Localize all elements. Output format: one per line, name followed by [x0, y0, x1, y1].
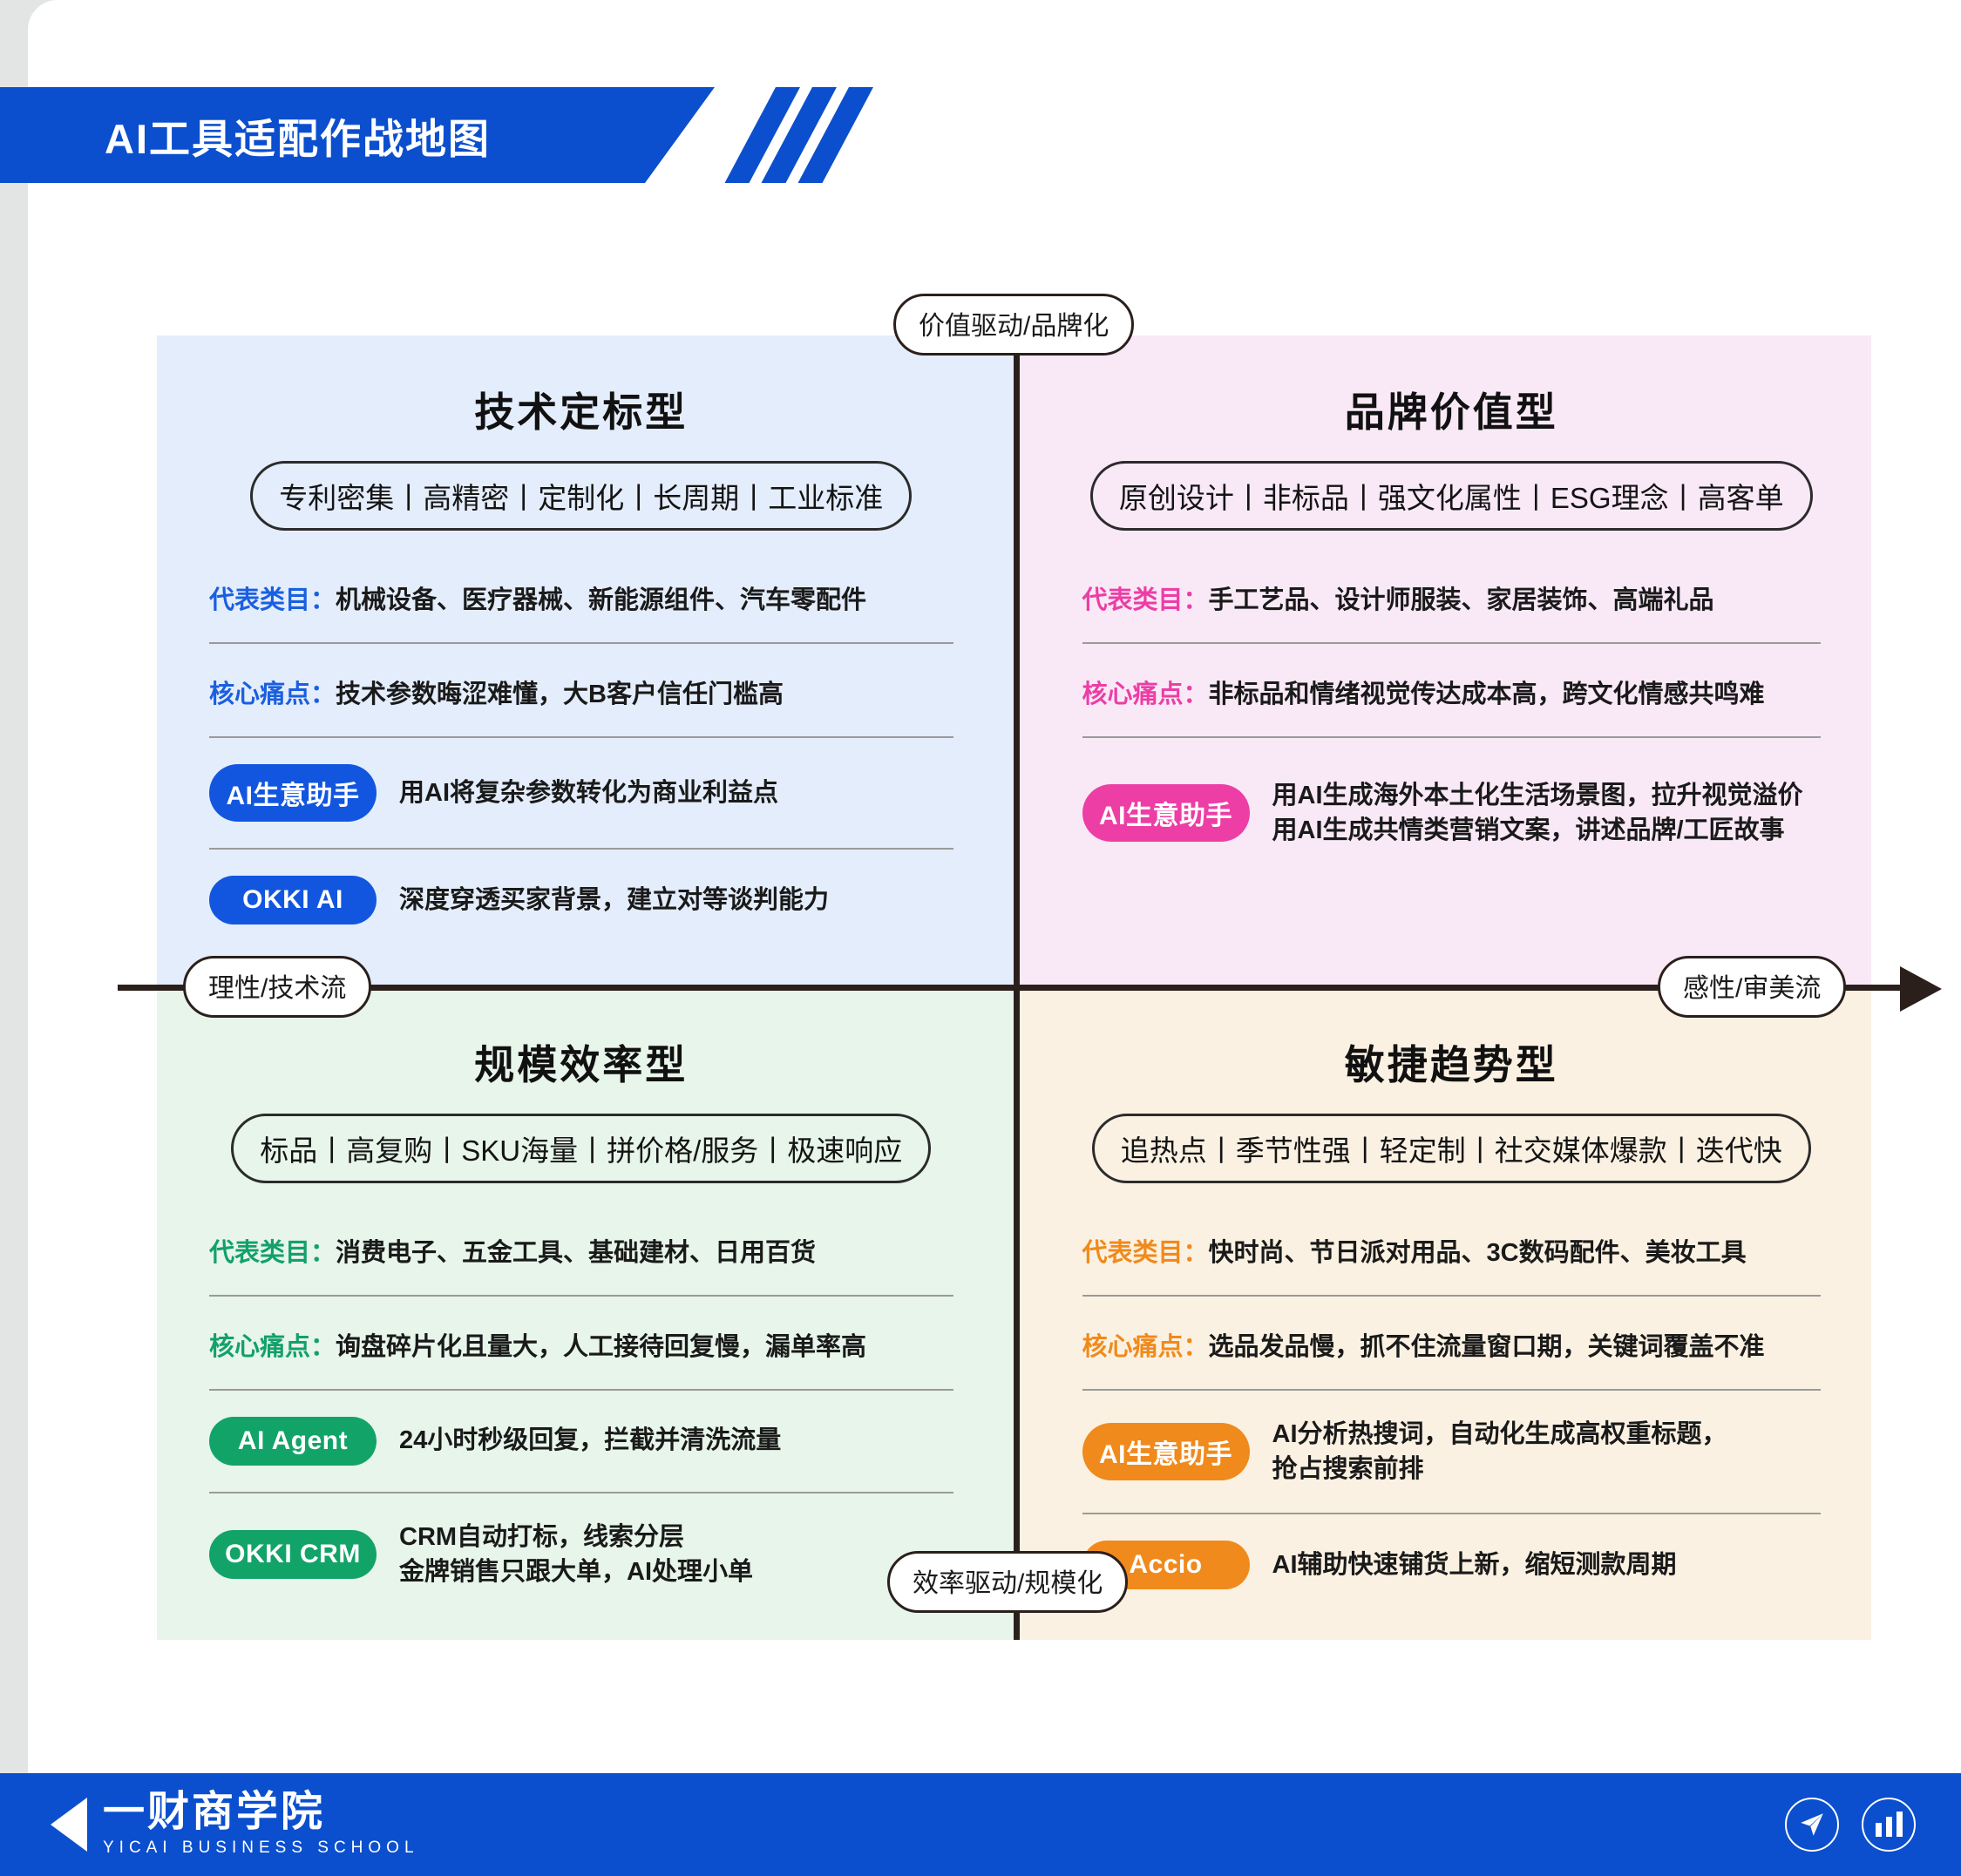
- bar-chart-bars: [1876, 1812, 1903, 1837]
- pain-label: 核心痛点：: [209, 674, 336, 710]
- tool-badge[interactable]: AI生意助手: [1082, 1423, 1250, 1480]
- tool-row: AI生意助手 AI分析热搜词，自动化生成高权重标题， 抢占搜索前排: [1082, 1417, 1822, 1487]
- divider: [1082, 1513, 1822, 1514]
- tool-badge[interactable]: OKKI CRM: [209, 1530, 377, 1579]
- pain-value: 非标品和情绪视觉传达成本高，跨文化情感共鸣难: [1209, 674, 1765, 710]
- tool-badge[interactable]: AI Agent: [209, 1417, 377, 1466]
- divider: [1082, 1295, 1822, 1297]
- pain-label: 核心痛点：: [1082, 674, 1209, 710]
- category-label: 代表类目：: [209, 1232, 336, 1269]
- divider: [209, 1389, 953, 1391]
- tool-description: 用AI将复杂参数转化为商业利益点: [399, 775, 778, 810]
- quadrant-tags: 专利密集丨高精密丨定制化丨长周期丨工业标准: [250, 461, 912, 531]
- tool-row: Accio AI辅助快速铺货上新，缩短测款周期: [1082, 1541, 1822, 1589]
- quadrant-tags: 标品丨高复购丨SKU海量丨拼价格/服务丨极速响应: [231, 1114, 931, 1183]
- tool-description: 用AI生成海外本土化生活场景图，拉升视觉溢价 用AI生成共情类营销文案，讲述品牌…: [1272, 778, 1803, 848]
- divider: [209, 1295, 953, 1297]
- quadrant-title: 品牌价值型: [1082, 381, 1822, 438]
- tool-description: CRM自动打标，线索分层 金牌销售只跟大单，AI处理小单: [399, 1520, 753, 1589]
- footer-icon-group: [1785, 1798, 1916, 1852]
- logo-name-cn: 一财商学院: [103, 1791, 419, 1834]
- pain-row: 核心痛点： 非标品和情绪视觉传达成本高，跨文化情感共鸣难: [1082, 674, 1822, 710]
- tool-badge[interactable]: AI生意助手: [1082, 784, 1250, 842]
- logo-triangle-icon: [51, 1798, 87, 1852]
- pain-label: 核心痛点：: [209, 1326, 336, 1363]
- category-row: 代表类目： 机械设备、医疗器械、新能源组件、汽车零配件: [209, 579, 953, 616]
- quadrant-title: 技术定标型: [209, 381, 953, 438]
- pain-value: 选品发品慢，抓不住流量窗口期，关键词覆盖不准: [1209, 1326, 1765, 1363]
- quadrant-matrix: 技术定标型 专利密集丨高精密丨定制化丨长周期丨工业标准 代表类目： 机械设备、医…: [157, 335, 1871, 1640]
- category-label: 代表类目：: [1082, 579, 1209, 616]
- tool-row: OKKI AI 深度穿透买家背景，建立对等谈判能力: [209, 876, 953, 924]
- page-title: AI工具适配作战地图: [105, 105, 491, 166]
- tool-row: AI Agent 24小时秒级回复，拦截并清洗流量: [209, 1417, 953, 1466]
- category-value: 快时尚、节日派对用品、3C数码配件、美妆工具: [1209, 1232, 1747, 1269]
- logo-name-en: YICAI BUSINESS SCHOOL: [103, 1839, 419, 1858]
- tool-badge[interactable]: AI生意助手: [209, 764, 377, 822]
- pain-label: 核心痛点：: [1082, 1326, 1209, 1363]
- horizontal-axis-arrow-icon: [1900, 966, 1942, 1012]
- send-icon[interactable]: [1785, 1798, 1839, 1852]
- category-value: 手工艺品、设计师服装、家居装饰、高端礼品: [1209, 579, 1714, 616]
- category-label: 代表类目：: [1082, 1232, 1209, 1269]
- quadrant-tags: 原创设计丨非标品丨强文化属性丨ESG理念丨高客单: [1090, 461, 1813, 531]
- quadrant-tech-standard: 技术定标型 专利密集丨高精密丨定制化丨长周期丨工业标准 代表类目： 机械设备、医…: [157, 335, 1014, 988]
- tool-badge[interactable]: OKKI AI: [209, 876, 377, 924]
- divider: [209, 848, 953, 850]
- pain-row: 核心痛点： 技术参数晦涩难懂，大B客户信任门槛高: [209, 674, 953, 710]
- tool-row: AI生意助手 用AI生成海外本土化生活场景图，拉升视觉溢价 用AI生成共情类营销…: [1082, 778, 1822, 848]
- category-row: 代表类目： 手工艺品、设计师服装、家居装饰、高端礼品: [1082, 579, 1822, 616]
- category-value: 消费电子、五金工具、基础建材、日用百货: [336, 1232, 816, 1269]
- axis-label-bottom: 效率驱动/规模化: [887, 1551, 1128, 1613]
- divider: [209, 642, 953, 644]
- category-value: 机械设备、医疗器械、新能源组件、汽车零配件: [336, 579, 866, 616]
- quadrant-tags: 追热点丨季节性强丨轻定制丨社交媒体爆款丨迭代快: [1092, 1114, 1811, 1183]
- category-row: 代表类目： 消费电子、五金工具、基础建材、日用百货: [209, 1232, 953, 1269]
- brand-logo: 一财商学院 YICAI BUSINESS SCHOOL: [51, 1791, 419, 1858]
- tool-description: 深度穿透买家背景，建立对等谈判能力: [399, 883, 829, 918]
- category-label: 代表类目：: [209, 579, 336, 616]
- horizontal-axis-line: [118, 985, 1909, 991]
- divider: [1082, 642, 1822, 644]
- divider: [1082, 736, 1822, 738]
- tool-description: AI辅助快速铺货上新，缩短测款周期: [1272, 1548, 1677, 1582]
- title-banner: AI工具适配作战地图: [0, 87, 715, 183]
- quadrant-title: 规模效率型: [209, 1033, 953, 1091]
- divider: [209, 1492, 953, 1493]
- pain-row: 核心痛点： 询盘碎片化且量大，人工接待回复慢，漏单率高: [209, 1326, 953, 1363]
- footer-bar: 一财商学院 YICAI BUSINESS SCHOOL: [0, 1773, 1961, 1876]
- quadrant-agile-trend: 敏捷趋势型 追热点丨季节性强丨轻定制丨社交媒体爆款丨迭代快 代表类目： 快时尚、…: [1014, 988, 1872, 1641]
- divider: [209, 736, 953, 738]
- category-row: 代表类目： 快时尚、节日派对用品、3C数码配件、美妆工具: [1082, 1232, 1822, 1269]
- tool-row: OKKI CRM CRM自动打标，线索分层 金牌销售只跟大单，AI处理小单: [209, 1520, 953, 1589]
- tool-description: AI分析热搜词，自动化生成高权重标题， 抢占搜索前排: [1272, 1417, 1727, 1487]
- tool-description: 24小时秒级回复，拦截并清洗流量: [399, 1423, 781, 1458]
- quadrant-scale-efficiency: 规模效率型 标品丨高复购丨SKU海量丨拼价格/服务丨极速响应 代表类目： 消费电…: [157, 988, 1014, 1641]
- quadrant-title: 敏捷趋势型: [1082, 1033, 1822, 1091]
- axis-label-right: 感性/审美流: [1658, 956, 1846, 1018]
- axis-label-left: 理性/技术流: [183, 956, 371, 1018]
- poster-card: AI工具适配作战地图 技术定标型 专利密集丨高精密丨定制化丨长周期丨工业标准 代…: [28, 0, 1961, 1876]
- divider: [1082, 1389, 1822, 1391]
- pain-value: 技术参数晦涩难懂，大B客户信任门槛高: [336, 674, 784, 710]
- pain-value: 询盘碎片化且量大，人工接待回复慢，漏单率高: [336, 1326, 866, 1363]
- tool-row: AI生意助手 用AI将复杂参数转化为商业利益点: [209, 764, 953, 822]
- pain-row: 核心痛点： 选品发品慢，抓不住流量窗口期，关键词覆盖不准: [1082, 1326, 1822, 1363]
- quadrant-brand-value: 品牌价值型 原创设计丨非标品丨强文化属性丨ESG理念丨高客单 代表类目： 手工艺…: [1014, 335, 1872, 988]
- axis-label-top: 价值驱动/品牌化: [893, 294, 1134, 356]
- vertical-axis-line: [1014, 309, 1020, 1640]
- bar-chart-icon[interactable]: [1862, 1798, 1916, 1852]
